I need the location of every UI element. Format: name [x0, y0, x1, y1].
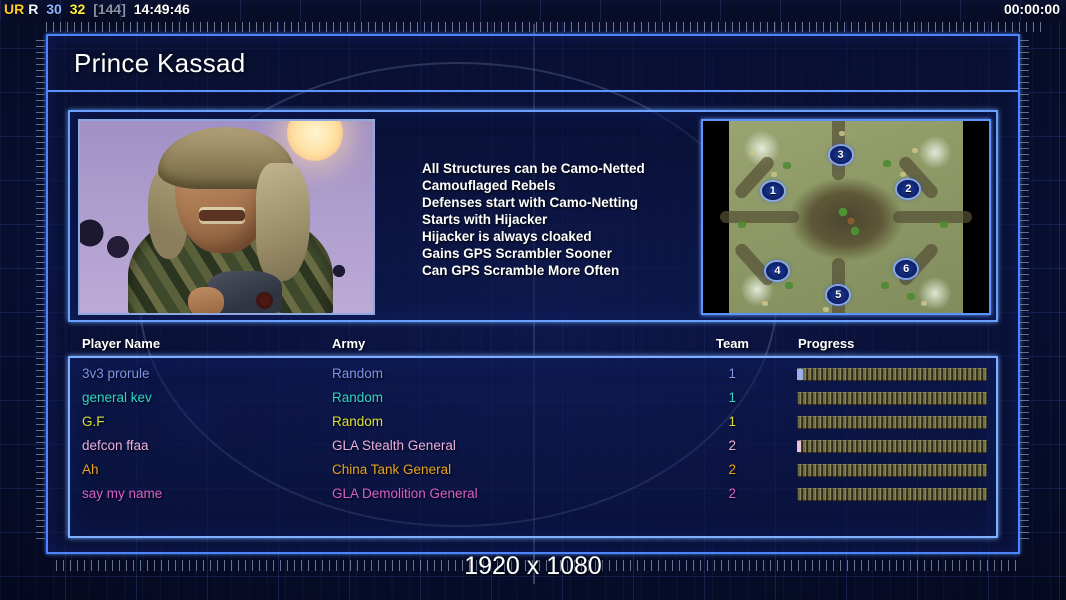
map-rock — [839, 131, 845, 136]
fps-cap-bracket: [144] — [93, 1, 126, 17]
map-tree — [738, 221, 746, 228]
column-header-progress: Progress — [798, 336, 854, 351]
army-cell: Random — [332, 414, 383, 429]
map-start-position[interactable]: 4 — [766, 262, 788, 280]
team-cell: 2 — [722, 462, 736, 477]
map-rock — [900, 172, 906, 177]
map-start-position-label: 3 — [838, 149, 844, 161]
general-portrait — [78, 119, 375, 315]
column-header-army: Army — [332, 336, 365, 351]
progress-bar-fill — [797, 369, 803, 380]
ruler-top-strip — [46, 22, 1046, 32]
map-rock — [823, 307, 829, 312]
fps-value-32: 32 — [70, 1, 86, 17]
progress-bar — [797, 488, 987, 501]
map-start-position-label: 1 — [770, 185, 776, 197]
map-tree — [881, 282, 889, 289]
map-tree — [883, 160, 891, 167]
table-row[interactable]: AhChina Tank General2 — [70, 459, 996, 483]
player-table-header: Player Name Army Team Progress — [68, 336, 998, 356]
match-timer: 00:00:00 — [1004, 1, 1060, 17]
top-status-bar: URR 30 32 [144] 14:49:46 00:00:00 — [0, 0, 1066, 21]
r-label: R — [28, 1, 38, 17]
resolution-caption: 1920 x 1080 — [0, 552, 1066, 581]
progress-bar — [797, 464, 987, 477]
portrait-mouth — [199, 207, 245, 224]
portrait-scarf-right — [256, 163, 310, 281]
ruler-right-strip — [1020, 40, 1029, 540]
app-root: URR 30 32 [144] 14:49:46 00:00:00 Prince… — [0, 0, 1066, 600]
team-cell: 2 — [722, 438, 736, 453]
column-header-team: Team — [716, 336, 749, 351]
progress-bar — [797, 392, 987, 405]
fps-value-30: 30 — [46, 1, 62, 17]
team-cell: 1 — [722, 390, 736, 405]
table-row[interactable]: 3v3 proruleRandom1 — [70, 363, 996, 387]
army-cell: China Tank General — [332, 462, 451, 477]
team-cell: 1 — [722, 414, 736, 429]
map-preview[interactable]: 1 2 3 4 5 6 — [701, 119, 991, 315]
table-row[interactable]: general kevRandom1 — [70, 387, 996, 411]
map-rock — [750, 150, 756, 155]
map-tree — [783, 162, 791, 169]
player-name-cell: Ah — [82, 462, 99, 477]
map-tree — [940, 221, 948, 228]
progress-bar-fill — [797, 441, 801, 452]
map-center-feature — [837, 207, 863, 237]
ruler-left-strip — [36, 40, 45, 540]
page-title: Prince Kassad — [74, 48, 246, 79]
map-rock — [912, 148, 918, 153]
player-name-cell: defcon ffaa — [82, 438, 149, 453]
table-row[interactable]: G.FRandom1 — [70, 411, 996, 435]
player-name-cell: G.F — [82, 414, 105, 429]
team-cell: 2 — [722, 486, 736, 501]
window-titlebar: Prince Kassad — [48, 36, 1018, 92]
army-cell: Random — [332, 366, 383, 381]
map-start-position[interactable]: 2 — [897, 180, 919, 198]
map-tree — [907, 293, 915, 300]
map-start-position-label: 4 — [774, 265, 780, 277]
portrait-weapon-muzzle — [256, 292, 273, 309]
map-start-position[interactable]: 3 — [830, 146, 852, 164]
progress-bar — [797, 416, 987, 429]
map-start-position-label: 2 — [905, 183, 911, 195]
progress-bar — [797, 368, 987, 381]
army-cell: Random — [332, 390, 383, 405]
system-clock: 14:49:46 — [134, 1, 190, 17]
portrait-hand — [188, 287, 224, 315]
map-start-position-label: 5 — [835, 289, 841, 301]
player-name-cell: say my name — [82, 486, 162, 501]
army-cell: GLA Stealth General — [332, 438, 456, 453]
progress-bar — [797, 440, 987, 453]
table-row[interactable]: defcon ffaaGLA Stealth General2 — [70, 435, 996, 459]
map-terrain: 1 2 3 4 5 6 — [729, 121, 963, 315]
player-name-cell: general kev — [82, 390, 152, 405]
map-start-position[interactable]: 1 — [762, 182, 784, 200]
map-road — [893, 211, 973, 223]
player-name-cell: 3v3 prorule — [82, 366, 150, 381]
army-cell: GLA Demolition General — [332, 486, 478, 501]
map-rock — [921, 301, 927, 306]
player-table: 3v3 proruleRandom1general kevRandom1G.FR… — [68, 356, 998, 538]
ur-label: UR — [4, 1, 24, 17]
table-row[interactable]: say my nameGLA Demolition General2 — [70, 483, 996, 507]
map-tree — [785, 282, 793, 289]
top-status-left-group: URR 30 32 [144] 14:49:46 — [4, 1, 194, 17]
map-rock — [771, 172, 777, 177]
main-window-frame: Prince Kassad — [46, 34, 1020, 554]
team-cell: 1 — [722, 366, 736, 381]
map-start-position[interactable]: 5 — [827, 286, 849, 304]
column-header-player-name: Player Name — [82, 336, 160, 351]
general-info-panel: All Structures can be Camo-Netted Camouf… — [68, 110, 998, 322]
map-road — [720, 211, 800, 223]
map-rock — [762, 301, 768, 306]
map-start-position-label: 6 — [903, 263, 909, 275]
